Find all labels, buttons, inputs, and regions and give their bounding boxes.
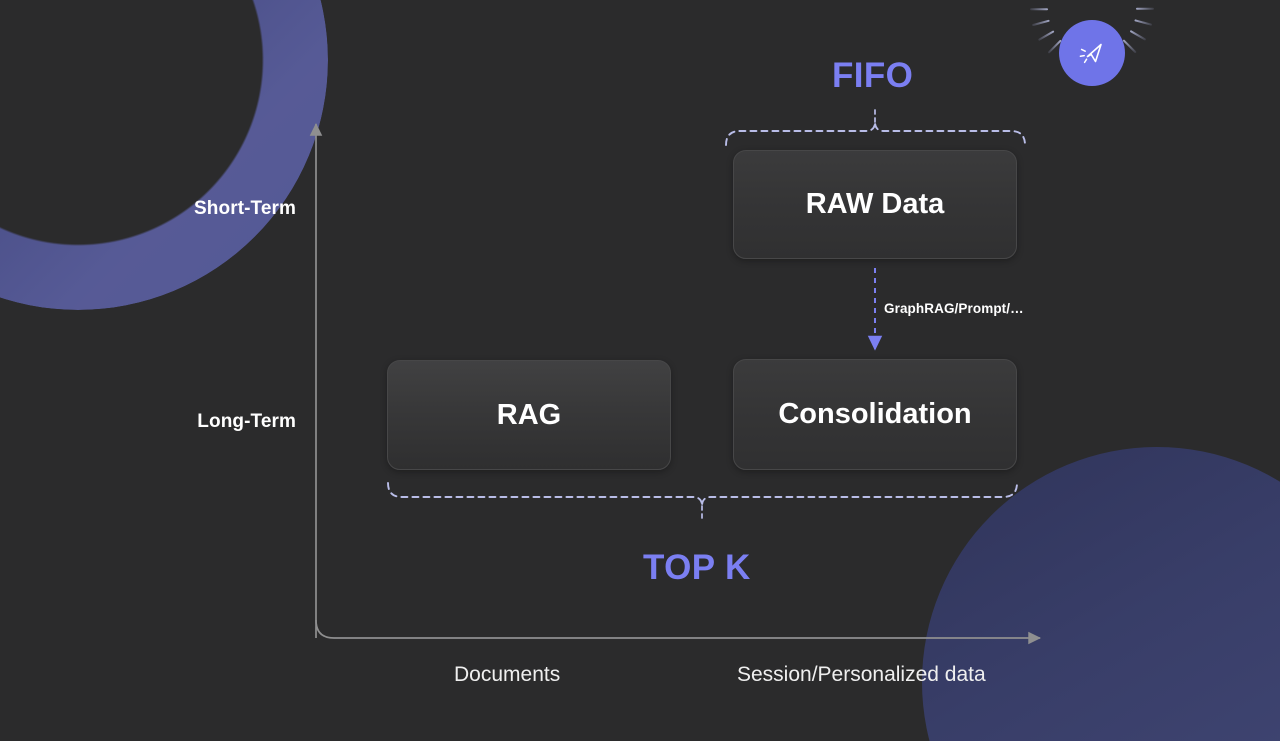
fifo-brace	[726, 110, 1025, 145]
node-consolidation[interactable]: Consolidation	[733, 359, 1017, 470]
node-rag-label: RAG	[497, 399, 561, 432]
group-label-fifo: FIFO	[832, 56, 913, 96]
node-consolidation-label: Consolidation	[778, 398, 971, 431]
node-raw-data[interactable]: RAW Data	[733, 150, 1017, 259]
diagram-canvas: Short-Term Long-Term Documents Session/P…	[0, 0, 1280, 741]
node-rag[interactable]: RAG	[387, 360, 671, 470]
node-raw-data-label: RAW Data	[806, 188, 945, 221]
topk-brace	[388, 483, 1017, 519]
group-label-topk: TOP K	[643, 548, 751, 588]
edge-label-graphrag: GraphRAG/Prompt/…	[884, 301, 1024, 316]
